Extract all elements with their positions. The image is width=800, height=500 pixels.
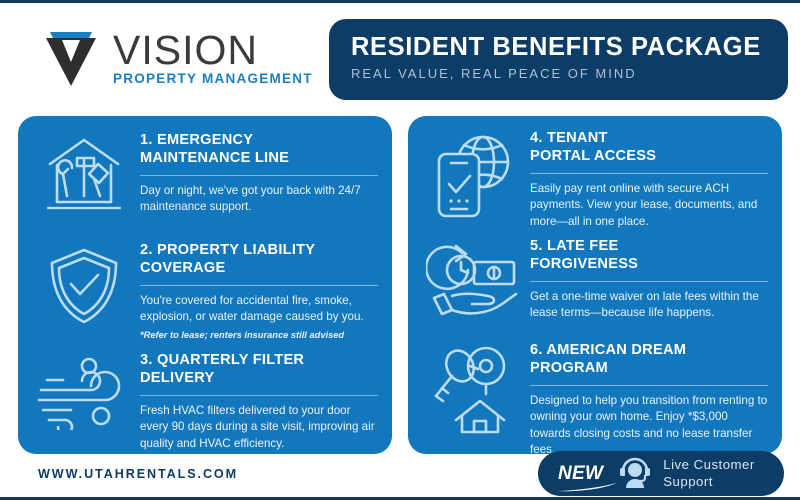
divider bbox=[140, 285, 378, 286]
benefit-text: 1. EMERGENCYMAINTENANCE LINE Day or nigh… bbox=[140, 128, 378, 216]
house-tools-icon bbox=[28, 128, 140, 216]
new-text: NEW bbox=[558, 463, 603, 484]
title-banner: RESIDENT BENEFITS PACKAGE REAL VALUE, RE… bbox=[329, 19, 788, 100]
page-subtitle: REAL VALUE, REAL PEACE OF MIND bbox=[351, 66, 788, 81]
benefit-body: Fresh HVAC filters delivered to your doo… bbox=[140, 403, 378, 452]
logo-wordmark: VISION PROPERTY MANAGEMENT bbox=[113, 31, 313, 85]
divider bbox=[530, 173, 768, 174]
swoosh-underline-icon bbox=[554, 483, 618, 492]
divider bbox=[140, 175, 378, 176]
divider bbox=[140, 395, 378, 396]
support-label: Live CustomerSupport bbox=[663, 457, 755, 490]
hand-money-clock-icon bbox=[418, 234, 530, 320]
poster-header: VISION PROPERTY MANAGEMENT RESIDENT BENE… bbox=[0, 6, 800, 106]
resident-benefits-poster: VISION PROPERTY MANAGEMENT RESIDENT BENE… bbox=[0, 0, 800, 500]
shield-check-icon bbox=[28, 238, 140, 328]
divider bbox=[530, 385, 768, 386]
benefit-body: You're covered for accidental fire, smok… bbox=[140, 293, 378, 326]
benefit-note: *Refer to lease; renters insurance still… bbox=[140, 329, 378, 341]
benefit-text: 4. TENANTPORTAL ACCESS Easily pay rent o… bbox=[530, 126, 768, 230]
logo-tagline: PROPERTY MANAGEMENT bbox=[113, 72, 313, 86]
benefit-title: 2. PROPERTY LIABILITYCOVERAGE bbox=[140, 242, 378, 278]
benefit-text: 3. QUARTERLY FILTERDELIVERY Fresh HVAC f… bbox=[140, 348, 378, 452]
benefits-column-right: 4. TENANTPORTAL ACCESS Easily pay rent o… bbox=[408, 116, 782, 454]
page-title: RESIDENT BENEFITS PACKAGE bbox=[351, 33, 788, 61]
benefit-title: 6. AMERICAN DREAMPROGRAM bbox=[530, 342, 768, 378]
benefit-body: Designed to help you transition from ren… bbox=[530, 393, 768, 459]
keys-house-icon bbox=[418, 338, 530, 434]
benefits-column-left: 1. EMERGENCYMAINTENANCE LINE Day or nigh… bbox=[18, 116, 392, 454]
benefit-card: 4. TENANTPORTAL ACCESS Easily pay rent o… bbox=[408, 126, 782, 230]
headset-support-icon bbox=[619, 456, 651, 493]
benefit-card: 2. PROPERTY LIABILITYCOVERAGE You're cov… bbox=[18, 238, 392, 341]
benefit-title: 1. EMERGENCYMAINTENANCE LINE bbox=[140, 132, 378, 168]
phone-globe-icon bbox=[418, 126, 530, 220]
benefit-card: 5. LATE FEEFORGIVENESS Get a one-time wa… bbox=[408, 234, 782, 322]
benefit-title: 3. QUARTERLY FILTERDELIVERY bbox=[140, 352, 378, 388]
divider bbox=[530, 281, 768, 282]
logo-name: VISION bbox=[113, 31, 313, 70]
benefit-title: 5. LATE FEEFORGIVENESS bbox=[530, 238, 768, 274]
benefit-card: 1. EMERGENCYMAINTENANCE LINE Day or nigh… bbox=[18, 128, 392, 216]
new-label: NEW bbox=[558, 463, 603, 485]
benefit-card: 6. AMERICAN DREAMPROGRAM Designed to hel… bbox=[408, 338, 782, 458]
benefit-text: 2. PROPERTY LIABILITYCOVERAGE You're cov… bbox=[140, 238, 378, 341]
live-customer-support-badge[interactable]: NEW Live CustomerSupport bbox=[538, 451, 784, 496]
airflow-wind-icon bbox=[28, 348, 140, 430]
benefit-body: Day or night, we've got your back with 2… bbox=[140, 183, 378, 216]
benefit-title: 4. TENANTPORTAL ACCESS bbox=[530, 130, 768, 166]
benefit-body: Get a one-time waiver on late fees withi… bbox=[530, 289, 768, 322]
company-logo: VISION PROPERTY MANAGEMENT bbox=[38, 24, 313, 90]
benefit-text: 6. AMERICAN DREAMPROGRAM Designed to hel… bbox=[530, 338, 768, 458]
vision-v-logo-icon bbox=[38, 24, 104, 90]
benefit-text: 5. LATE FEEFORGIVENESS Get a one-time wa… bbox=[530, 234, 768, 322]
benefit-card: 3. QUARTERLY FILTERDELIVERY Fresh HVAC f… bbox=[18, 348, 392, 452]
benefit-body: Easily pay rent online with secure ACH p… bbox=[530, 181, 768, 230]
website-url[interactable]: WWW.UTAHRENTALS.COM bbox=[38, 467, 238, 481]
